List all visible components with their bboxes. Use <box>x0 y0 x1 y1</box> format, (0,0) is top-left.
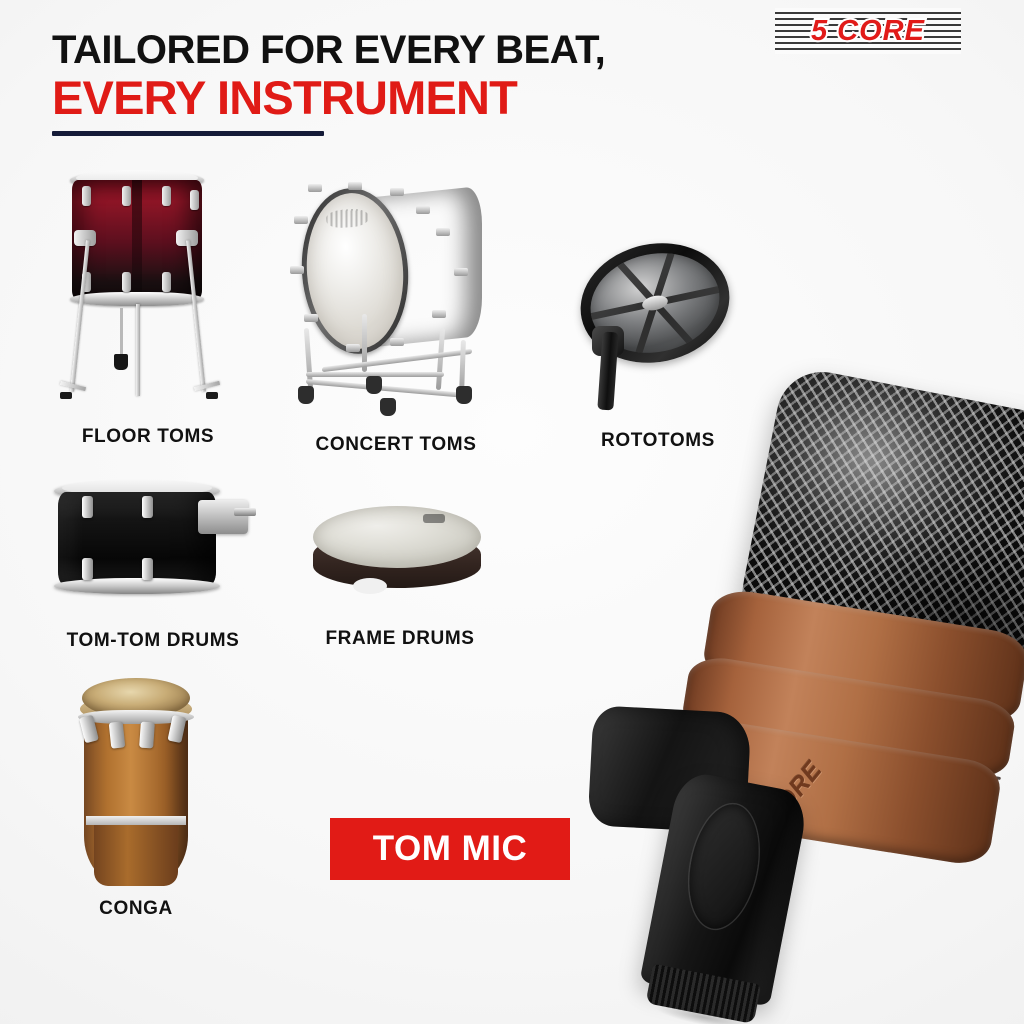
instrument-concert-toms: CONCERT TOMS <box>286 182 506 418</box>
tom-microphone-icon: 5CORE <box>520 350 1024 1024</box>
headline-line-1: TAILORED FOR EVERY BEAT, <box>52 30 752 72</box>
instrument-label-floor-toms: FLOOR TOMS <box>28 426 268 448</box>
instrument-label-tom-tom-drums: TOM-TOM DRUMS <box>20 630 286 652</box>
headline-line-2: EVERY INSTRUMENT <box>52 74 752 122</box>
instrument-label-concert-toms: CONCERT TOMS <box>274 434 518 456</box>
headline-block: TAILORED FOR EVERY BEAT, EVERY INSTRUMEN… <box>52 30 752 122</box>
brand-logo-text: 5 CORE <box>775 8 961 54</box>
brand-logo: 5 CORE <box>775 8 961 54</box>
promo-banner: 5 CORE TAILORED FOR EVERY BEAT, EVERY IN… <box>0 0 1024 1024</box>
instrument-label-conga: CONGA <box>28 898 244 920</box>
instrument-conga: CONGA <box>66 670 206 892</box>
instrument-tom-tom-drums: TOM-TOM DRUMS <box>48 474 258 614</box>
headline-underline <box>52 131 324 136</box>
instrument-floor-toms: FLOOR TOMS <box>48 168 248 418</box>
drum-cradle-stand <box>288 328 504 416</box>
product-badge-label: TOM MIC <box>373 829 528 869</box>
instrument-frame-drums: FRAME DRUMS <box>305 500 495 612</box>
instrument-label-frame-drums: FRAME DRUMS <box>289 628 511 650</box>
